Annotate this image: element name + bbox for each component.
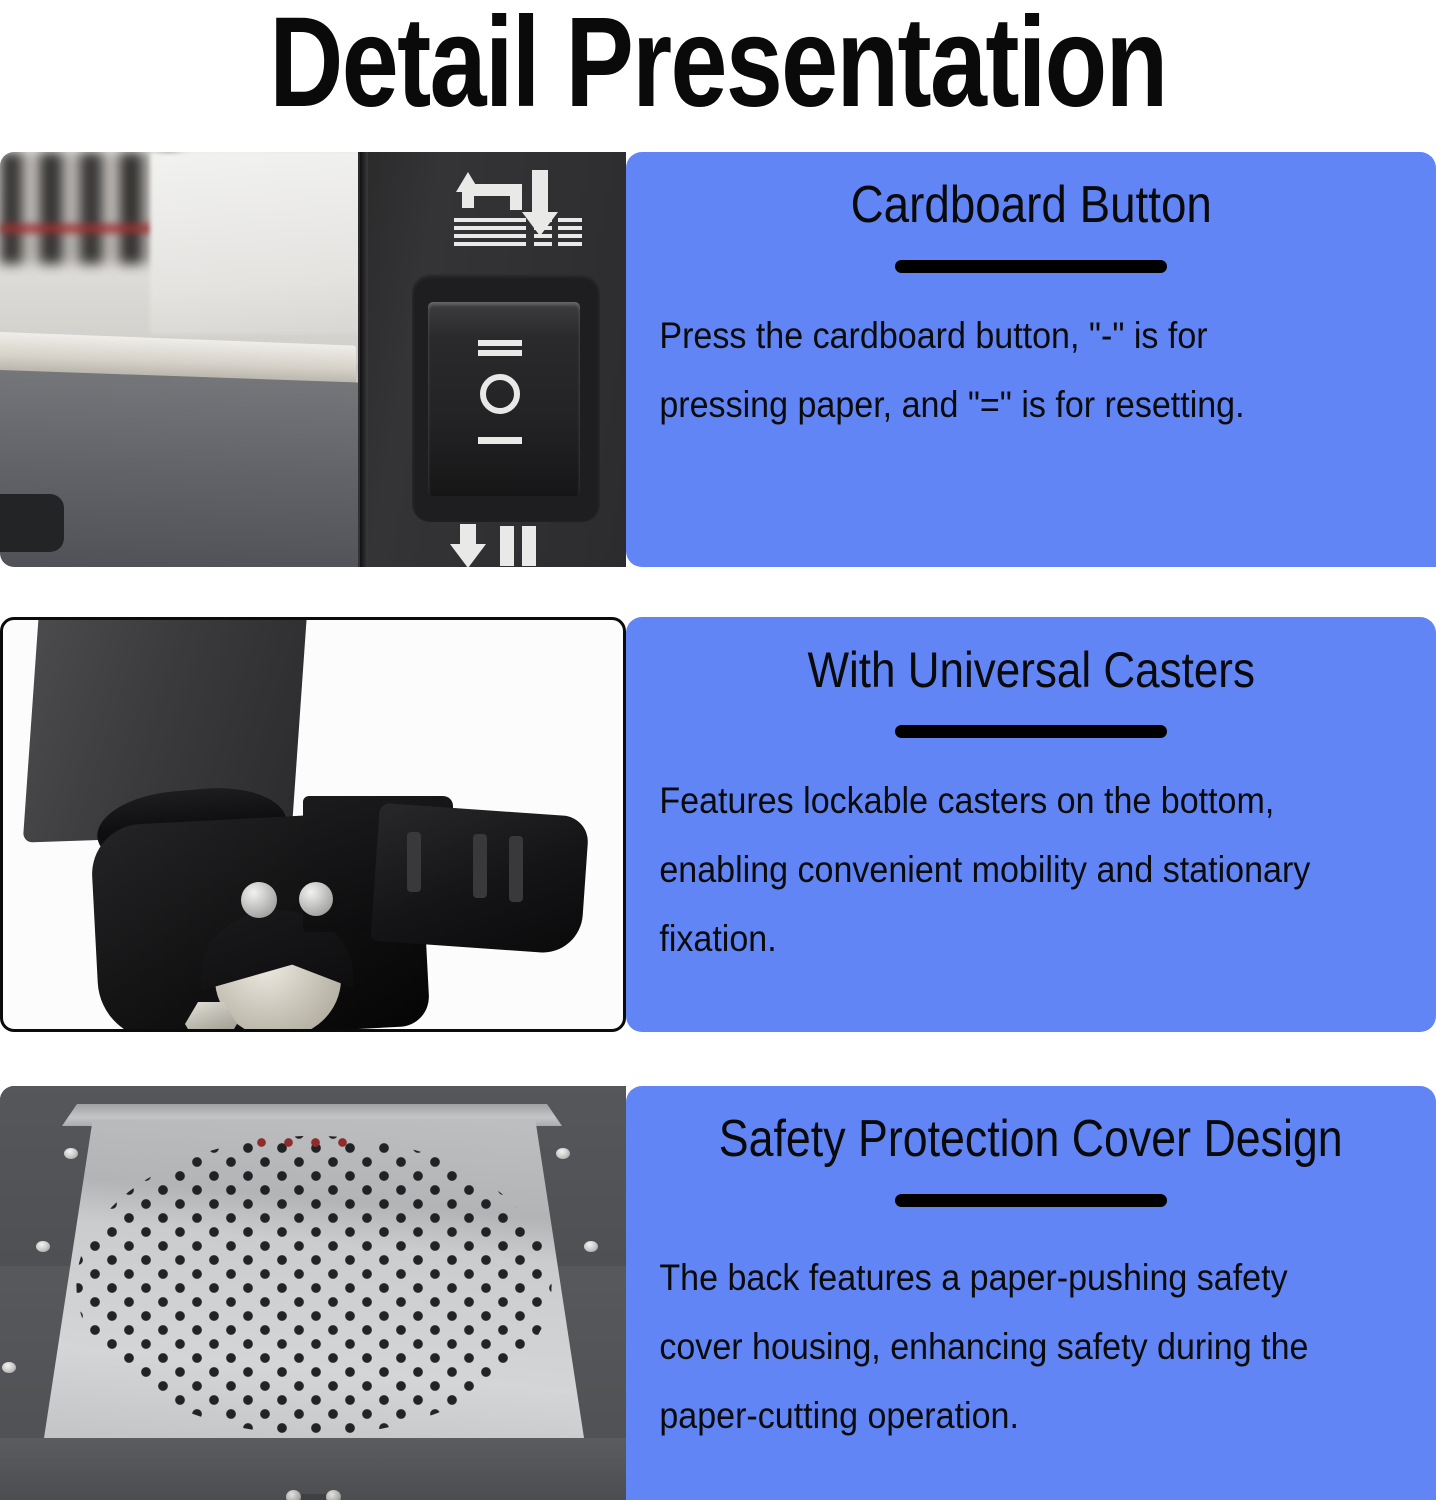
photo-inner [0, 152, 626, 567]
blurred-red-line [0, 224, 168, 233]
machine-body-bottom [0, 1438, 626, 1500]
machine-knob [0, 494, 64, 552]
cover-screw [2, 1362, 16, 1373]
card-body: The back features a paper-pushing safety… [652, 1217, 1349, 1450]
switch-equals-symbol-icon [478, 340, 522, 356]
card-heading: Cardboard Button [850, 174, 1211, 236]
cover-bolt [286, 1490, 301, 1500]
info-card-safety-protection-cover: Safety Protection Cover Design The back … [626, 1086, 1436, 1500]
card-divider [895, 1194, 1167, 1207]
brake-pedal-rib [407, 832, 421, 892]
photo-inner [3, 620, 623, 1029]
switch-dash-symbol-icon [478, 437, 522, 444]
card-heading: Safety Protection Cover Design [719, 1108, 1343, 1170]
up-arrow-paper-clamp-icon [448, 162, 588, 258]
perforated-safety-cover-photo [0, 1086, 626, 1500]
cover-screw [584, 1241, 598, 1252]
down-arrow-paper-bars-icon [448, 524, 558, 567]
caster-rivet [299, 882, 333, 916]
cover-screw [36, 1241, 50, 1252]
clear-guard-panel [150, 152, 382, 334]
card-body: Press the cardboard button, "-" is for p… [652, 283, 1349, 439]
lockable-caster-wheel-photo [0, 617, 626, 1032]
panel-seam [360, 152, 368, 567]
caster-rivet [241, 882, 277, 918]
card-body: Features lockable casters on the bottom,… [652, 748, 1349, 973]
info-card-universal-casters: With Universal Casters Features lockable… [626, 617, 1436, 1032]
photo-inner [0, 1086, 626, 1500]
cover-screw [556, 1148, 570, 1159]
card-divider [895, 725, 1167, 738]
switch-circle-symbol-icon [480, 374, 520, 414]
red-indicator-holes [248, 1138, 364, 1147]
feature-row-universal-casters: With Universal Casters Features lockable… [0, 617, 1436, 1032]
card-divider [895, 260, 1167, 273]
cover-screw [64, 1148, 78, 1159]
page-title: Detail Presentation [144, 0, 1293, 122]
brake-pedal-rib [473, 834, 487, 898]
card-heading: With Universal Casters [807, 639, 1254, 701]
feature-row-safety-protection-cover: Safety Protection Cover Design The back … [0, 1086, 1436, 1500]
feature-row-cardboard-button: Cardboard Button Press the cardboard but… [0, 152, 1436, 567]
cover-bolt [326, 1490, 341, 1500]
brake-pedal-rib [509, 836, 523, 902]
control-panel-rocker-switch-photo [0, 152, 626, 567]
info-card-cardboard-button: Cardboard Button Press the cardboard but… [626, 152, 1436, 567]
